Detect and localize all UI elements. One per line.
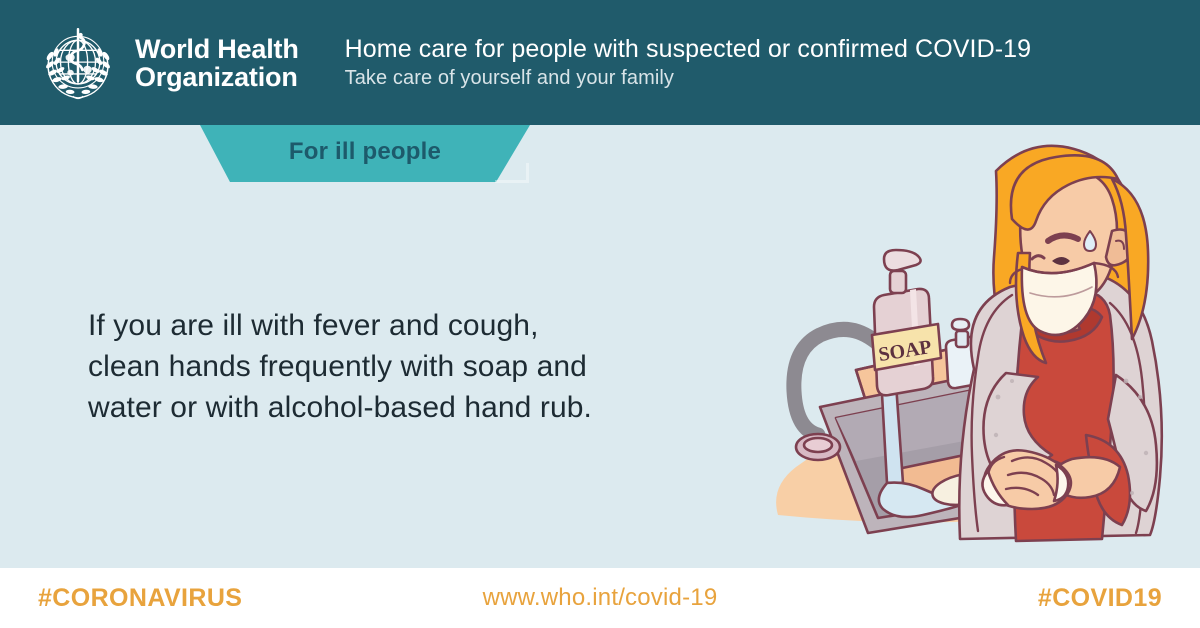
who-logo-icon bbox=[34, 21, 122, 105]
main-message: If you are ill with fever and cough, cle… bbox=[88, 305, 708, 428]
footer-bar: #CORONAVIRUS www.who.int/covid-19 #COVID… bbox=[0, 568, 1200, 628]
body-area: For ill people If you are ill with fever… bbox=[0, 125, 1200, 568]
header-bar: World Health Organization Home care for … bbox=[0, 0, 1200, 125]
banner-corner-artifact bbox=[495, 163, 529, 183]
message-line-1: If you are ill with fever and cough, bbox=[88, 305, 708, 346]
header-title: Home care for people with suspected or c… bbox=[345, 33, 1032, 65]
who-wordmark-line2: Organization bbox=[135, 63, 299, 91]
who-wordmark: World Health Organization bbox=[135, 35, 299, 91]
audience-banner: For ill people bbox=[200, 125, 530, 182]
footer-hashtag-covid19[interactable]: #COVID19 bbox=[1038, 584, 1162, 613]
message-line-3: water or with alcohol-based hand rub. bbox=[88, 387, 708, 428]
message-line-2: clean hands frequently with soap and bbox=[88, 346, 708, 387]
who-wordmark-line1: World Health bbox=[135, 35, 299, 63]
header-text-block: Home care for people with suspected or c… bbox=[345, 33, 1032, 92]
woman-washing-hands-illustration: SOAP bbox=[760, 135, 1200, 555]
header-subtitle: Take care of yourself and your family bbox=[345, 65, 1032, 92]
audience-banner-label: For ill people bbox=[200, 125, 530, 182]
who-logo-block: World Health Organization bbox=[34, 21, 299, 105]
who-covid-infographic: World Health Organization Home care for … bbox=[0, 0, 1200, 628]
footer-url[interactable]: www.who.int/covid-19 bbox=[0, 584, 1200, 612]
